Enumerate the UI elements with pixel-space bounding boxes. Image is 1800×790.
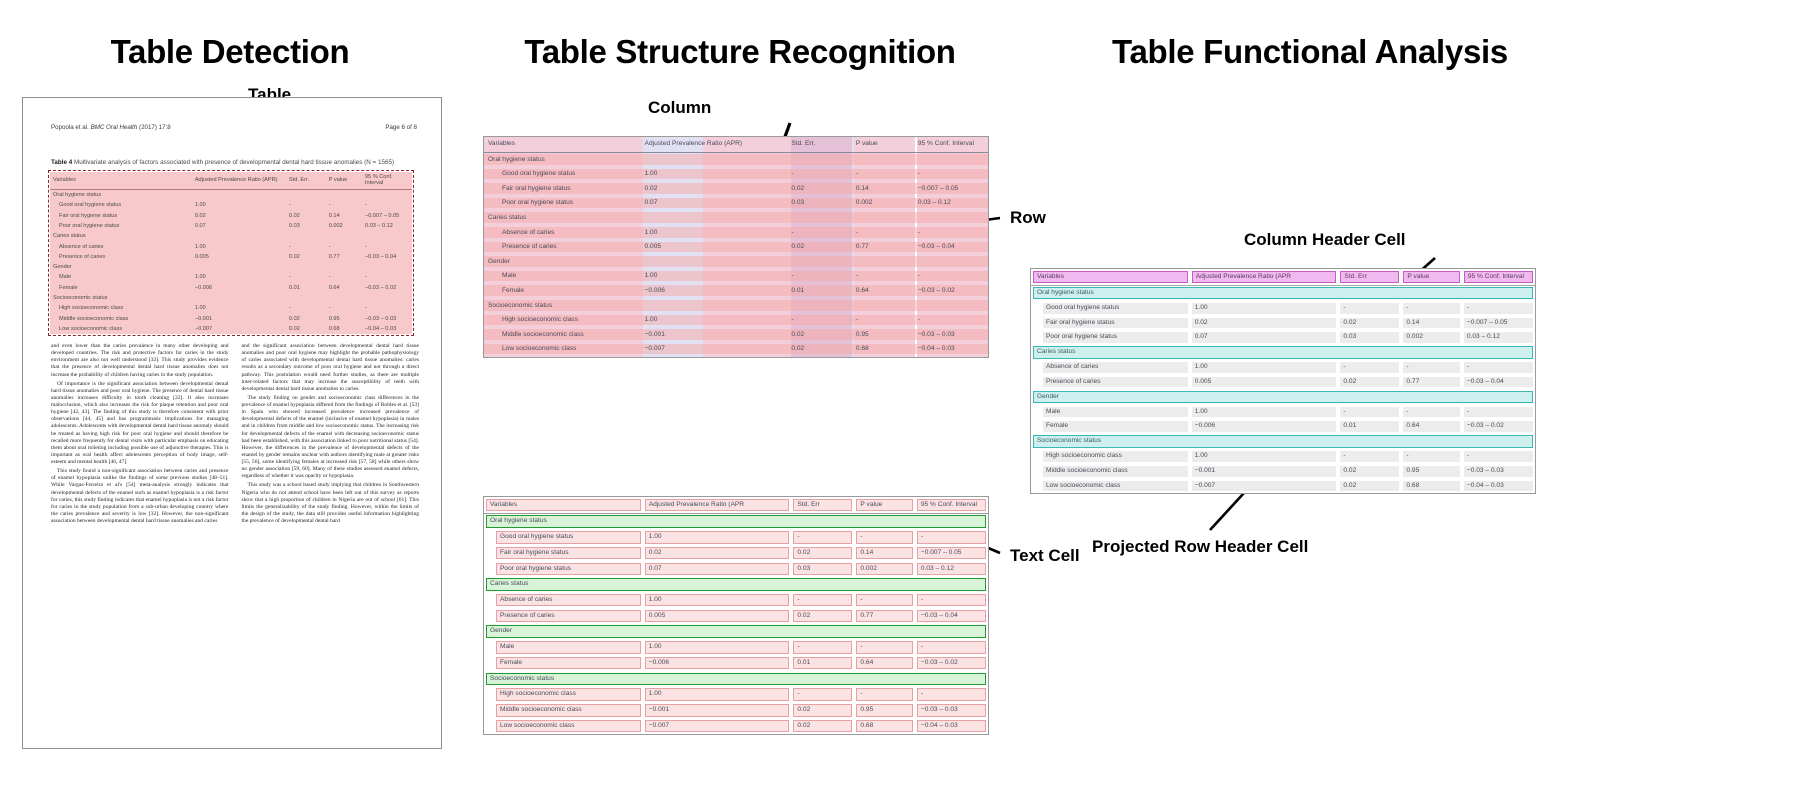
projected-row-header-cell: Gender (1031, 389, 1535, 404)
table-section-row: Oral hygiene status (484, 513, 988, 529)
table-row: Poor oral hygiene status0.070.030.0020.0… (484, 196, 988, 211)
document-paragraph: and even lower than the caries prevalenc… (51, 343, 229, 379)
table-cell (641, 211, 788, 226)
grid-cell-box: - (917, 641, 986, 654)
grid-cell-box: 0.03 – 0.12 (917, 563, 986, 576)
table-cell (641, 299, 788, 314)
table-row: Fair oral hygiene status0.020.020.14−0.0… (484, 182, 988, 197)
table-cell (329, 189, 365, 200)
table-row: Presence of caries0.0050.020.77−0.03 – 0… (484, 240, 988, 255)
table-cell: 0.03 – 0.12 (365, 221, 412, 231)
text-cell-box: Middle socioeconomic class (1043, 466, 1188, 477)
table-cell: - (365, 200, 412, 210)
text-cell-box: −0.03 – 0.02 (1464, 421, 1533, 432)
table-row-label: Good oral hygiene status (484, 167, 641, 182)
projected-row-header-cell-box: Caries status (1033, 346, 1533, 358)
table-row-label: Male (484, 269, 641, 284)
table-cell: 0.002 (329, 221, 365, 231)
text-cell-box: - (1340, 451, 1399, 462)
grid-cell-box: - (793, 531, 852, 544)
callout-row: Row (1010, 208, 1046, 228)
text-cell-box: - (1340, 303, 1399, 314)
table-row-label: Presence of caries (484, 240, 641, 255)
table-cell (852, 152, 914, 167)
table-cell: - (914, 226, 988, 241)
text-cell-box: 0.02 (1192, 318, 1337, 329)
text-cell-box: - (1340, 362, 1399, 373)
grid-cell: 0.14 (854, 545, 914, 561)
text-cell: 0.03 – 0.12 (1462, 330, 1535, 345)
grid-cell-box: −0.03 – 0.03 (917, 704, 986, 717)
text-cell: 0.02 (1338, 479, 1401, 494)
grid-cell: Middle socioeconomic class (484, 702, 643, 718)
text-cell-box: Absence of caries (1043, 362, 1188, 373)
grid-cell: - (854, 592, 914, 608)
table-section-row: Socioeconomic status (484, 671, 988, 687)
grid-cell: 0.01 (791, 655, 854, 671)
table-cell: 0.02 (289, 324, 329, 334)
text-cell: Absence of caries (1031, 360, 1190, 375)
table-row: Absence of caries1.00--- (484, 592, 988, 608)
grid-cell: Fair oral hygiene status (484, 545, 643, 561)
text-cell-box: 0.02 (1340, 481, 1399, 492)
text-cell-box: - (1403, 303, 1459, 314)
grid-cell-box: 0.005 (645, 610, 790, 623)
text-cell: 0.02 (1338, 375, 1401, 390)
table-row: Absence of caries1.00--- (1031, 360, 1535, 375)
table-cell: −0.001 (195, 314, 289, 324)
grid-cell: Absence of caries (484, 592, 643, 608)
table-row-label: Oral hygiene status (484, 152, 641, 167)
text-cell: - (1401, 360, 1461, 375)
text-cell: Good oral hygiene status (1031, 301, 1190, 316)
table-cell: 0.01 (787, 284, 851, 299)
projected-row-header-row: Caries status (1031, 345, 1535, 360)
callout-text-cell: Text Cell (1010, 546, 1080, 566)
table-cell: - (787, 313, 851, 328)
text-cell: 0.77 (1401, 375, 1461, 390)
table-row-label: Female (484, 284, 641, 299)
spanning-cell-box: Socioeconomic status (486, 673, 986, 685)
table-row: Poor oral hygiene status0.070.030.0020.0… (50, 221, 412, 231)
grid-cell-box: −0.04 – 0.03 (917, 720, 986, 733)
text-cell-box: 0.005 (1192, 377, 1337, 388)
table-row-label: Socioeconomic status (484, 299, 641, 314)
column-header-cell-box: P value (1403, 271, 1459, 284)
grid-cell-box: −0.006 (645, 657, 790, 670)
grid-cell: −0.03 – 0.02 (915, 655, 988, 671)
grid-cell: - (854, 639, 914, 655)
grid-cell-box: - (856, 688, 912, 701)
table-cell: - (914, 313, 988, 328)
text-cell-box: - (1464, 362, 1533, 373)
table-cell: 1.00 (641, 167, 788, 182)
grid-cell-box: 0.77 (856, 610, 912, 623)
grid-cell-box: - (856, 641, 912, 654)
table-row: Good oral hygiene status1.00--- (50, 200, 412, 210)
projected-row-header-cell-box: Socioeconomic status (1033, 435, 1533, 447)
table-section-row: Oral hygiene status (484, 152, 988, 167)
text-cell-box: 1.00 (1192, 451, 1337, 462)
grid-cell: −0.007 – 0.05 (915, 545, 988, 561)
grid-cell: 0.02 (791, 545, 854, 561)
text-cell: - (1462, 360, 1535, 375)
text-cell-box: Poor oral hygiene status (1043, 332, 1188, 343)
grid-cell-box: - (793, 688, 852, 701)
table-cell: - (289, 303, 329, 313)
grid-cell: 0.002 (854, 561, 914, 577)
running-head-left-prefix: Popoola et al. (51, 124, 91, 131)
table-cell: 0.64 (329, 283, 365, 293)
grid-cell-box: Fair oral hygiene status (496, 547, 641, 560)
grid-cell-box: 0.07 (645, 563, 790, 576)
table-cell (195, 293, 289, 303)
table-cell: 0.77 (852, 240, 914, 255)
table-row-label: Low socioeconomic class (50, 324, 195, 334)
column-header-cell: Adjusted Prevalence Ratio (APR) (641, 137, 788, 152)
table-cell: 0.03 – 0.12 (914, 196, 988, 211)
column-header-cell-box: Std. Err (1340, 271, 1399, 284)
table-cell: −0.006 (195, 283, 289, 293)
table-row: Good oral hygiene status1.00--- (484, 167, 988, 182)
grid-cell: Poor oral hygiene status (484, 561, 643, 577)
grid-cell-box: 0.02 (793, 547, 852, 560)
table-header-row: VariablesAdjusted Prevalence Ratio (APRS… (484, 497, 988, 513)
spanning-cell-box: Caries status (486, 578, 986, 590)
table-row: Low socioeconomic class−0.0070.020.68−0.… (484, 342, 988, 357)
grid-cell-box: 0.64 (856, 657, 912, 670)
table-row: High socioeconomic class1.00--- (484, 313, 988, 328)
table-cell: −0.03 – 0.03 (914, 328, 988, 343)
document-body: and even lower than the caries prevalenc… (51, 343, 419, 728)
table-cell: −0.03 – 0.04 (914, 240, 988, 255)
table-cell (914, 152, 988, 167)
table-caption-label: Table 4 (51, 159, 72, 166)
grid-cell-box: - (917, 531, 986, 544)
text-cell: - (1401, 405, 1461, 420)
table-cell: 0.01 (289, 283, 329, 293)
table-row: Male1.00--- (484, 639, 988, 655)
table-cell: −0.006 (641, 284, 788, 299)
table-cell: - (852, 167, 914, 182)
grid-cell: −0.006 (643, 655, 792, 671)
document-page: Popoola et al. BMC Oral Health (2017) 17… (22, 97, 442, 749)
grid-cell: 0.68 (854, 718, 914, 734)
table-row: Presence of caries0.0050.020.77−0.03 – 0… (484, 608, 988, 624)
table-cell: 1.00 (195, 241, 289, 251)
grid-cell-box: - (856, 594, 912, 607)
table-cell (195, 262, 289, 272)
table-section-row: Socioeconomic status (50, 293, 412, 303)
table-cell: - (852, 313, 914, 328)
table-section-row: Socioeconomic status (484, 299, 988, 314)
table-cell: −0.007 (195, 324, 289, 334)
text-cell: −0.04 – 0.03 (1462, 479, 1535, 494)
column-header-cell: 95 % Conf. Interval (914, 137, 988, 152)
text-cell: 0.14 (1401, 316, 1461, 331)
table-row-label: High socioeconomic class (50, 303, 195, 313)
document-paragraph: and the significant association between … (242, 343, 420, 393)
text-cell: 0.03 (1338, 330, 1401, 345)
table-cell: - (365, 303, 412, 313)
table-caption: Table 4 Multivariate analysis of factors… (51, 159, 419, 168)
table-row: High socioeconomic class1.00--- (1031, 449, 1535, 464)
table-cell: −0.03 – 0.02 (365, 283, 412, 293)
projected-row-header-row: Socioeconomic status (1031, 434, 1535, 449)
table-cell (329, 293, 365, 303)
text-cell: - (1401, 449, 1461, 464)
table-cell: 0.02 (787, 240, 851, 255)
table-row-label: Male (50, 272, 195, 282)
document-running-head: Popoola et al. BMC Oral Health (2017) 17… (51, 124, 417, 131)
text-cell: 0.64 (1401, 419, 1461, 434)
text-cell-box: 0.03 – 0.12 (1464, 332, 1533, 343)
table-cell (914, 255, 988, 270)
callout-column: Column (648, 98, 711, 118)
grid-cell-box: 1.00 (645, 594, 790, 607)
text-cell-box: Female (1043, 421, 1188, 432)
table-row-label: Fair oral hygiene status (50, 210, 195, 220)
grid-cell: −0.04 – 0.03 (915, 718, 988, 734)
grid-cell: Variables (484, 497, 643, 513)
text-cell-box: - (1403, 451, 1459, 462)
grid-cell: - (915, 687, 988, 703)
grid-cell: 0.77 (854, 608, 914, 624)
column-header-cell-box: Variables (1033, 271, 1188, 284)
table-section-row: Caries status (484, 211, 988, 226)
spanning-cell: Gender (484, 624, 988, 640)
grid-cell-box: Middle socioeconomic class (496, 704, 641, 717)
table-row-label: Low socioeconomic class (484, 342, 641, 357)
text-cell: - (1338, 360, 1401, 375)
text-cell: −0.006 (1190, 419, 1339, 434)
text-cell-box: 1.00 (1192, 407, 1337, 418)
table-row: Presence of caries0.0050.020.77−0.03 – 0… (50, 252, 412, 262)
text-cell: 1.00 (1190, 449, 1339, 464)
table-row-label: Poor oral hygiene status (484, 196, 641, 211)
column-header-cell: Variables (1031, 269, 1190, 285)
grid-cell-box: Adjusted Prevalence Ratio (APR (645, 499, 790, 512)
text-cell-box: - (1464, 303, 1533, 314)
table-cell: - (289, 241, 329, 251)
text-cell: −0.007 – 0.05 (1462, 316, 1535, 331)
grid-cell: 0.03 – 0.12 (915, 561, 988, 577)
text-cell-box: - (1464, 451, 1533, 462)
table-cell: - (852, 269, 914, 284)
document-paragraph: Of importance is the significant associa… (51, 381, 229, 467)
text-cell-box: 0.95 (1403, 466, 1459, 477)
table-cell (329, 231, 365, 241)
panel-title-table-structure-recognition: Table Structure Recognition (470, 33, 1010, 71)
text-cell: 0.07 (1190, 330, 1339, 345)
text-cell-box: - (1464, 407, 1533, 418)
table-cell: - (365, 272, 412, 282)
grid-cell: - (791, 639, 854, 655)
grid-cell: Good oral hygiene status (484, 529, 643, 545)
table-section-row: Caries status (484, 577, 988, 593)
text-cell-box: - (1403, 407, 1459, 418)
table-cell (365, 293, 412, 303)
table-cell: 0.02 (787, 328, 851, 343)
table-cell (365, 262, 412, 272)
table-header-row: VariablesAdjusted Prevalence Ratio (APRS… (1031, 269, 1535, 285)
grid-cell-box: 0.02 (793, 704, 852, 717)
text-cell-box: −0.007 – 0.05 (1464, 318, 1533, 329)
table-cell (641, 152, 788, 167)
grid-cell-box: P value (856, 499, 912, 512)
text-cell: High socioeconomic class (1031, 449, 1190, 464)
table-cell: 0.02 (641, 182, 788, 197)
table-row-label: High socioeconomic class (484, 313, 641, 328)
grid-cell: 1.00 (643, 639, 792, 655)
table-cell: 0.95 (852, 328, 914, 343)
table-row-label: Oral hygiene status (50, 189, 195, 200)
table-cell (195, 189, 289, 200)
table-cell (365, 231, 412, 241)
grid-cell-box: 0.95 (856, 704, 912, 717)
text-cell: Poor oral hygiene status (1031, 330, 1190, 345)
grid-cell-box: High socioeconomic class (496, 688, 641, 701)
table-cell: 0.03 (289, 221, 329, 231)
text-cell-box: 1.00 (1192, 362, 1337, 373)
table-section-row: Oral hygiene status (50, 189, 412, 200)
table-row-label: Caries status (484, 211, 641, 226)
text-cell-box: 0.14 (1403, 318, 1459, 329)
table-cell: - (914, 269, 988, 284)
table-cell (914, 211, 988, 226)
grid-cell: 0.02 (791, 718, 854, 734)
text-cell-box: 0.002 (1403, 332, 1459, 343)
grid-cell: - (791, 529, 854, 545)
grid-cell-box: 0.02 (793, 720, 852, 733)
grid-cell: −0.03 – 0.03 (915, 702, 988, 718)
grid-cell-box: 0.68 (856, 720, 912, 733)
text-cell: 0.68 (1401, 479, 1461, 494)
text-cell: Middle socioeconomic class (1031, 464, 1190, 479)
grid-cell: - (915, 639, 988, 655)
table-cell: 0.64 (852, 284, 914, 299)
table-cell: 0.14 (329, 210, 365, 220)
column-header-cell: P value (1401, 269, 1461, 285)
functional-analysis-grid: VariablesAdjusted Prevalence Ratio (APRS… (1031, 269, 1535, 493)
text-cell-box: Male (1043, 407, 1188, 418)
table-row: Absence of caries1.00--- (484, 226, 988, 241)
panel-title-table-functional-analysis: Table Functional Analysis (1030, 33, 1590, 71)
grid-cell: 0.95 (854, 702, 914, 718)
running-head-journal: BMC Oral Health (91, 124, 138, 131)
grid-cell-box: 0.002 (856, 563, 912, 576)
table-cell: 0.07 (195, 221, 289, 231)
grid-cell-box: Good oral hygiene status (496, 531, 641, 544)
grid-cell: - (854, 529, 914, 545)
table-row: Fair oral hygiene status0.020.020.14−0.0… (1031, 316, 1535, 331)
structure-rowcol-table: VariablesAdjusted Prevalence Ratio (APR)… (483, 136, 989, 358)
table-cell: - (787, 269, 851, 284)
grid-cell: −0.001 (643, 702, 792, 718)
table-cell: −0.007 (641, 342, 788, 357)
table-cell: 0.03 (787, 196, 851, 211)
table-row: Low socioeconomic class−0.0070.020.68−0.… (1031, 479, 1535, 494)
table-row: Fair oral hygiene status0.020.020.14−0.0… (50, 210, 412, 220)
document-column-left: and even lower than the caries prevalenc… (51, 343, 229, 728)
table-cell: −0.03 – 0.02 (914, 284, 988, 299)
table-row: Middle socioeconomic class−0.0010.020.95… (1031, 464, 1535, 479)
projected-row-header-cell: Caries status (1031, 345, 1535, 360)
grid-cell: - (791, 592, 854, 608)
table-row: Middle socioeconomic class−0.0010.020.95… (50, 314, 412, 324)
table-header-row: VariablesAdjusted Prevalence Ratio (APR)… (484, 137, 988, 152)
table-header-cell: 95 % Conf. Interval (365, 172, 412, 189)
table-cell: 0.07 (641, 196, 788, 211)
grid-cell: Std. Err (791, 497, 854, 513)
projected-row-header-cell-box: Oral hygiene status (1033, 287, 1533, 299)
grid-cell-box: Absence of caries (496, 594, 641, 607)
projected-row-header-row: Oral hygiene status (1031, 285, 1535, 301)
table-header-cell: Adjusted Prevalence Ratio (APR) (195, 172, 289, 189)
text-cell-box: 1.00 (1192, 303, 1337, 314)
table-cell: 0.95 (329, 314, 365, 324)
grid-cell: Male (484, 639, 643, 655)
projected-row-header-cell: Socioeconomic status (1031, 434, 1535, 449)
table-caption-text: Multivariate analysis of factors associa… (72, 159, 394, 166)
table-row-label: Caries status (50, 231, 195, 241)
text-cell: Low socioeconomic class (1031, 479, 1190, 494)
grid-cell-box: - (793, 641, 852, 654)
text-cell: 0.002 (1401, 330, 1461, 345)
column-header-cell: 95 % Conf. Interval (1462, 269, 1535, 285)
text-cell-box: High socioeconomic class (1043, 451, 1188, 462)
table-row-label: Middle socioeconomic class (484, 328, 641, 343)
table-cell (289, 293, 329, 303)
table-row: Female−0.0060.010.64−0.03 – 0.02 (50, 283, 412, 293)
grid-cell-box: Male (496, 641, 641, 654)
grid-cell-box: Poor oral hygiene status (496, 563, 641, 576)
grid-cell: Adjusted Prevalence Ratio (APR (643, 497, 792, 513)
table-row-label: Presence of caries (50, 252, 195, 262)
column-header-cell: Adjusted Prevalence Ratio (APR (1190, 269, 1339, 285)
grid-cell-box: - (856, 531, 912, 544)
grid-cell-box: 1.00 (645, 531, 790, 544)
text-cell: −0.001 (1190, 464, 1339, 479)
table-cell: - (289, 200, 329, 210)
grid-cell: Female (484, 655, 643, 671)
table-cell: - (329, 303, 365, 313)
text-cell: 0.005 (1190, 375, 1339, 390)
grid-cell-box: Variables (486, 499, 641, 512)
grid-cell: 1.00 (643, 592, 792, 608)
table-cell: 0.02 (787, 342, 851, 357)
table-cell: 0.02 (289, 314, 329, 324)
text-cell-box: 0.68 (1403, 481, 1459, 492)
grid-cell-box: Std. Err (793, 499, 852, 512)
table-row: Low socioeconomic class−0.0070.020.68−0.… (484, 718, 988, 734)
text-cell-box: Fair oral hygiene status (1043, 318, 1188, 329)
table-row-label: Gender (484, 255, 641, 270)
table-row: High socioeconomic class1.00--- (50, 303, 412, 313)
text-cell-box: −0.04 – 0.03 (1464, 481, 1533, 492)
grid-cell-box: 0.03 (793, 563, 852, 576)
grid-cell: −0.007 (643, 718, 792, 734)
detected-table: VariablesAdjusted Prevalence Ratio (APR)… (50, 172, 412, 334)
table-cell: 1.00 (195, 272, 289, 282)
table-row: Poor oral hygiene status0.070.030.0020.0… (1031, 330, 1535, 345)
text-cell: 0.02 (1190, 316, 1339, 331)
text-cell-box: - (1403, 362, 1459, 373)
grid-cell: 0.03 (791, 561, 854, 577)
grid-cell: High socioeconomic class (484, 687, 643, 703)
grid-cell: - (854, 687, 914, 703)
table-cell: 0.005 (641, 240, 788, 255)
